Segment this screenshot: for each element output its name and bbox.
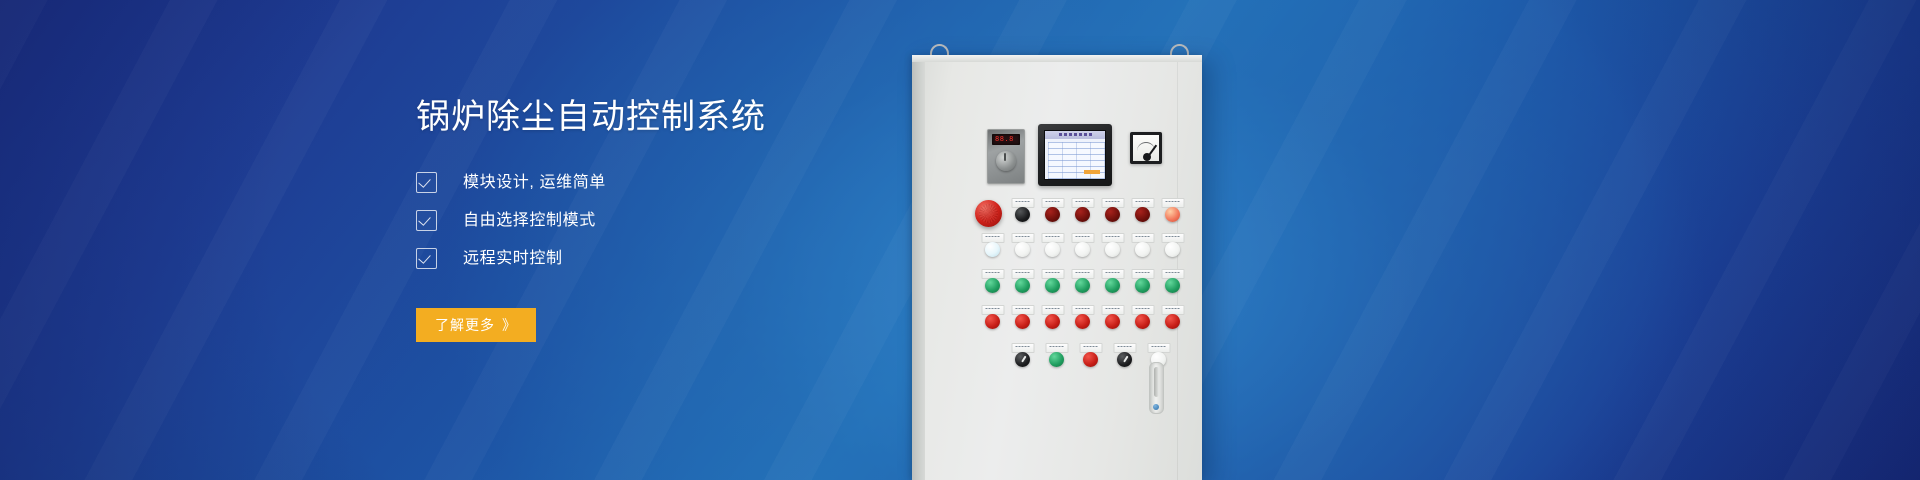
button-cap: [1049, 352, 1064, 367]
feature-item-3: 远程实时控制: [416, 248, 976, 269]
control-cabinet-image: [912, 40, 1202, 480]
pushbutton: [985, 242, 1000, 257]
checkbox-checked-icon: [416, 248, 437, 269]
button-cap: [1135, 207, 1150, 222]
button-cap: [1075, 242, 1090, 257]
learn-more-button[interactable]: 了解更多 》: [416, 308, 536, 342]
pushbutton: [1165, 207, 1180, 222]
selector-switch: [1117, 352, 1132, 367]
pushbutton: [1105, 207, 1120, 222]
pushbutton: [1045, 278, 1060, 293]
button-cap: [1105, 242, 1120, 257]
button-cap: [1075, 278, 1090, 293]
pushbutton: [1165, 314, 1180, 329]
feature-item-2: 自由选择控制模式: [416, 210, 976, 231]
pushbutton: [1165, 278, 1180, 293]
button-cap: [985, 278, 1000, 293]
button-cap: [1165, 314, 1180, 329]
button-cap: [1045, 242, 1060, 257]
pushbutton: [985, 278, 1000, 293]
button-cap: [1165, 242, 1180, 257]
pushbutton: [1045, 314, 1060, 329]
pushbutton: [1045, 242, 1060, 257]
feature-label: 自由选择控制模式: [463, 213, 596, 229]
feature-label: 远程实时控制: [463, 251, 563, 267]
learn-more-label: 了解更多: [435, 315, 495, 335]
feature-item-1: 模块设计, 运维简单: [416, 172, 976, 193]
button-cap: [985, 314, 1000, 329]
pushbutton: [1015, 278, 1030, 293]
button-cap: [1045, 207, 1060, 222]
button-cap: [1083, 352, 1098, 367]
selector-knob: [1117, 352, 1132, 367]
selector-knob: [1015, 352, 1030, 367]
checkbox-checked-icon: [416, 210, 437, 231]
cabinet-door-handle: [1149, 362, 1164, 414]
pushbutton: [1083, 352, 1098, 367]
button-cap: [1015, 207, 1030, 222]
pushbutton: [985, 314, 1000, 329]
button-cap: [985, 242, 1000, 257]
pushbutton-grid: [925, 62, 1202, 480]
button-cap: [1015, 314, 1030, 329]
cabinet-body: [912, 55, 1202, 480]
door-lock-icon: [1153, 404, 1159, 410]
pushbutton: [1075, 207, 1090, 222]
button-cap: [1135, 242, 1150, 257]
hero-banner: 锅炉除尘自动控制系统 模块设计, 运维简单 自由选择控制模式 远程实时控制 了解…: [0, 0, 1920, 480]
pushbutton: [1105, 278, 1120, 293]
button-cap: [1135, 278, 1150, 293]
selector-switch: [1015, 352, 1030, 367]
pushbutton: [1015, 207, 1030, 222]
button-cap: [1045, 278, 1060, 293]
pushbutton: [1075, 314, 1090, 329]
button-cap: [1075, 207, 1090, 222]
button-cap: [1015, 278, 1030, 293]
pushbutton: [1105, 242, 1120, 257]
page-title: 锅炉除尘自动控制系统: [416, 100, 976, 134]
chevron-right-icon: 》: [502, 315, 517, 335]
pushbutton: [1015, 242, 1030, 257]
pushbutton: [1135, 242, 1150, 257]
button-cap: [1045, 314, 1060, 329]
cabinet-top-lip: [912, 55, 1202, 62]
pushbutton: [1105, 314, 1120, 329]
pushbutton: [1165, 242, 1180, 257]
button-cap: [1105, 207, 1120, 222]
cabinet-door: [925, 62, 1202, 480]
pushbutton: [1075, 242, 1090, 257]
pushbutton: [1135, 207, 1150, 222]
pushbutton: [1135, 314, 1150, 329]
button-cap: [1165, 278, 1180, 293]
cabinet-side-panel: [912, 55, 925, 480]
button-cap: [1015, 242, 1030, 257]
pushbutton: [1045, 207, 1060, 222]
hero-copy: 锅炉除尘自动控制系统 模块设计, 运维简单 自由选择控制模式 远程实时控制 了解…: [416, 100, 976, 342]
button-cap: [1135, 314, 1150, 329]
pushbutton: [1049, 352, 1064, 367]
pushbutton: [1135, 278, 1150, 293]
button-cap: [1075, 314, 1090, 329]
feature-label: 模块设计, 运维简单: [463, 175, 606, 191]
checkbox-checked-icon: [416, 172, 437, 193]
button-cap: [1165, 207, 1180, 222]
pushbutton: [1015, 314, 1030, 329]
button-cap: [1105, 314, 1120, 329]
button-cap: [1105, 278, 1120, 293]
pushbutton: [1075, 278, 1090, 293]
